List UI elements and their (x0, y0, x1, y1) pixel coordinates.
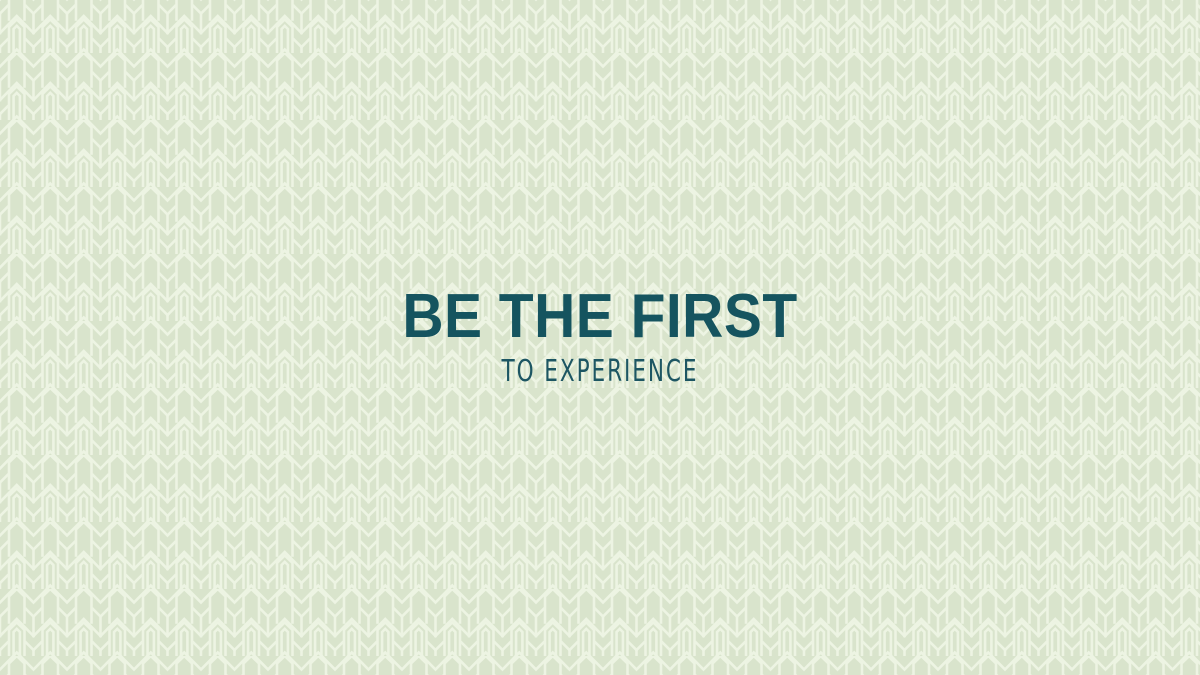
slide-canvas: BE THE FIRST TO EXPERIENCE (0, 0, 1200, 675)
title-text-block: BE THE FIRST TO EXPERIENCE (0, 288, 1200, 387)
subheadline: TO EXPERIENCE (120, 357, 1080, 387)
headline: BE THE FIRST (48, 288, 1152, 346)
